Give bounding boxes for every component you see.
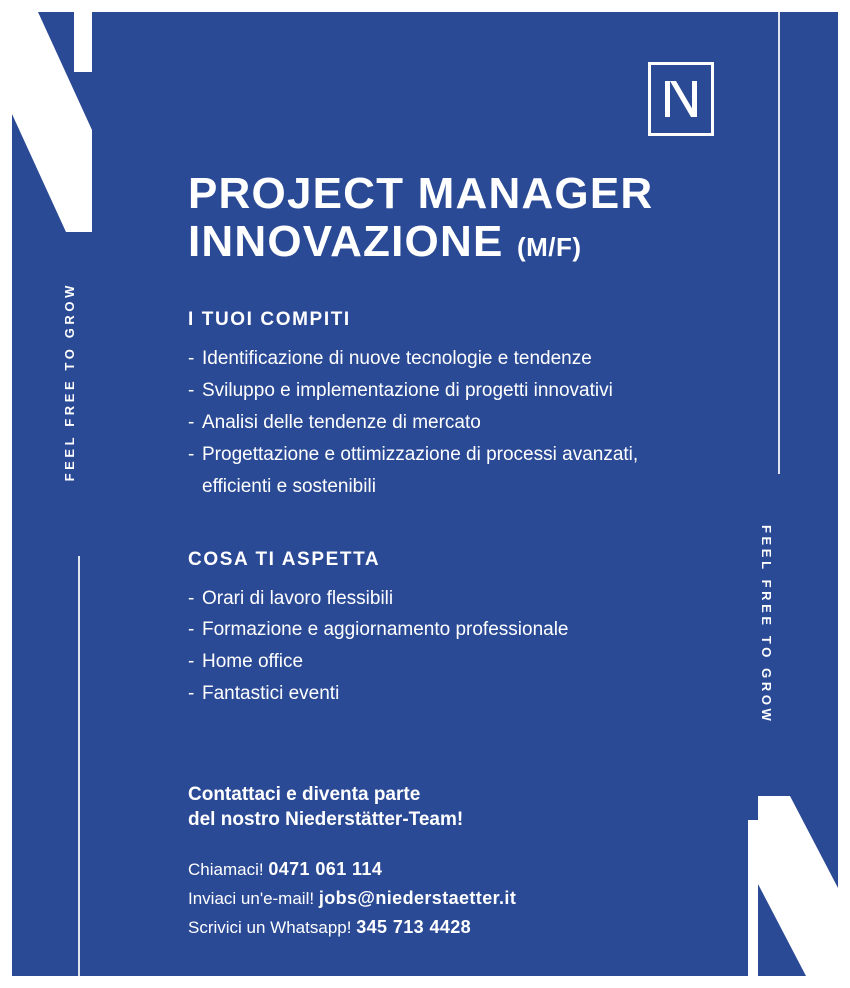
section-tasks: I TUOI COMPITI -Identificazione di nuove… <box>188 309 748 503</box>
section-benefits-heading: COSA TI ASPETTA <box>188 549 748 571</box>
bullet-dash: - <box>188 678 202 710</box>
list-item-text: Progettazione e ottimizzazione di proces… <box>202 444 638 465</box>
border-bottom <box>0 976 850 988</box>
title-line-2: INNOVAZIONE <box>188 217 504 266</box>
vertical-rule-left <box>78 556 80 976</box>
border-top <box>0 0 850 12</box>
bullet-dash: - <box>188 614 202 646</box>
list-item: -Sviluppo e implementazione di progetti … <box>188 375 748 407</box>
tagline-right: FEEL FREE TO GROW <box>759 525 774 724</box>
contact-headline-line-1: Contattaci e diventa parte <box>188 784 420 805</box>
contact-phone-value[interactable]: 0471 061 114 <box>268 859 382 879</box>
contact-headline-line-2: del nostro Niederstätter-Team! <box>188 809 463 830</box>
contact-email-label: Inviaci un'e-mail! <box>188 889 314 908</box>
logo-n-icon <box>651 65 711 133</box>
job-ad-poster: FEEL FREE TO GROW FEEL FREE TO GROW PROJ… <box>0 0 850 988</box>
bullet-dash: - <box>188 375 202 407</box>
contact-headline: Contattaci e diventa parte del nostro Ni… <box>188 782 516 833</box>
contact-phone: Chiamaci! 0471 061 114 <box>188 855 516 884</box>
poster-content: PROJECT MANAGER INNOVAZIONE (M/F) I TUOI… <box>188 170 748 710</box>
list-item-text: Sviluppo e implementazione di progetti i… <box>202 380 613 401</box>
contact-phone-label: Chiamaci! <box>188 860 264 879</box>
list-item-text: Orari di lavoro flessibili <box>202 588 393 609</box>
list-item-text-continued: efficienti e sostenibili <box>188 471 748 503</box>
contact-block: Contattaci e diventa parte del nostro Ni… <box>188 782 516 941</box>
title-gender-note: (M/F) <box>517 232 582 262</box>
title-line-1: PROJECT MANAGER <box>188 169 653 218</box>
list-item: -Orari di lavoro flessibili <box>188 583 748 615</box>
contact-email-value[interactable]: jobs@niederstaetter.it <box>319 888 516 908</box>
decorative-n-shape-bottom-right <box>748 796 838 976</box>
section-benefits: COSA TI ASPETTA -Orari di lavoro flessib… <box>188 549 748 711</box>
page-title: PROJECT MANAGER INNOVAZIONE (M/F) <box>188 170 748 265</box>
contact-whatsapp: Scrivici un Whatsapp! 345 713 4428 <box>188 913 516 942</box>
list-item: -Identificazione di nuove tecnologie e t… <box>188 343 748 375</box>
bullet-dash: - <box>188 343 202 375</box>
list-item: -Progettazione e ottimizzazione di proce… <box>188 439 748 503</box>
bullet-dash: - <box>188 439 202 471</box>
contact-whatsapp-label: Scrivici un Whatsapp! <box>188 918 351 937</box>
list-item: -Analisi delle tendenze di mercato <box>188 407 748 439</box>
contact-email: Inviaci un'e-mail! jobs@niederstaetter.i… <box>188 884 516 913</box>
bullet-dash: - <box>188 646 202 678</box>
border-right <box>838 0 850 988</box>
decorative-n-shape-top-left <box>12 12 92 232</box>
list-item-text: Formazione e aggiornamento professionale <box>202 619 569 640</box>
section-tasks-heading: I TUOI COMPITI <box>188 309 748 331</box>
list-item-text: Analisi delle tendenze di mercato <box>202 412 481 433</box>
list-item: -Fantastici eventi <box>188 678 748 710</box>
list-item: -Home office <box>188 646 748 678</box>
list-item-text: Identificazione di nuove tecnologie e te… <box>202 348 592 369</box>
vertical-rule-right <box>778 12 780 474</box>
list-item-text: Fantastici eventi <box>202 683 339 704</box>
tagline-left: FEEL FREE TO GROW <box>62 282 77 481</box>
list-item-text: Home office <box>202 651 303 672</box>
title-line-2-wrapper: INNOVAZIONE (M/F) <box>188 218 748 266</box>
bullet-dash: - <box>188 407 202 439</box>
company-logo <box>648 62 714 136</box>
border-left <box>0 0 12 988</box>
list-item: -Formazione e aggiornamento professional… <box>188 614 748 646</box>
bullet-dash: - <box>188 583 202 615</box>
contact-whatsapp-value[interactable]: 345 713 4428 <box>356 917 471 937</box>
